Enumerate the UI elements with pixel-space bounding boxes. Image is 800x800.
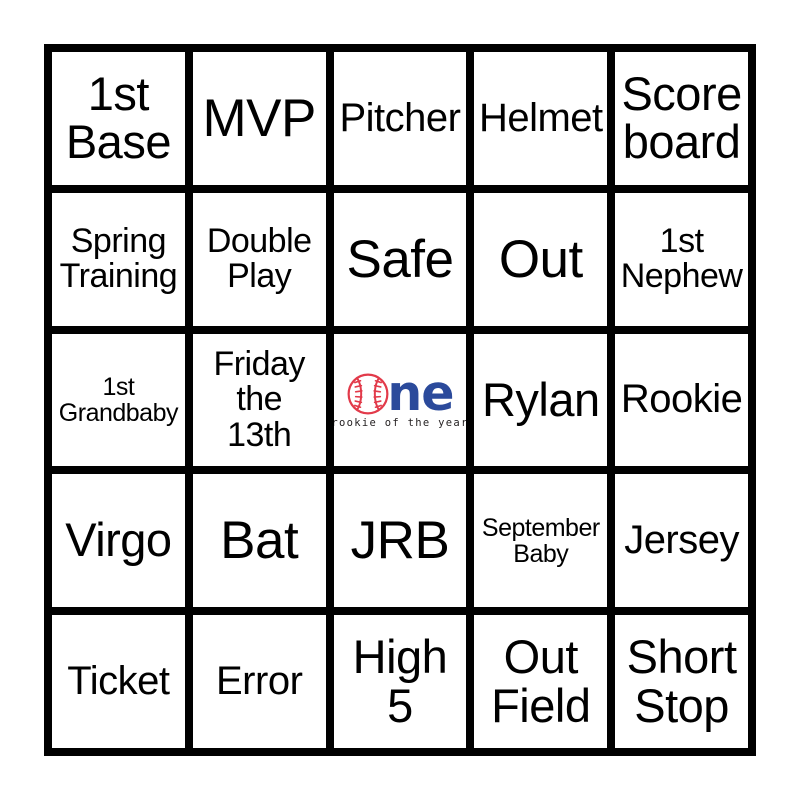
bingo-cell[interactable]: 1st Nephew — [615, 193, 748, 326]
bingo-cell[interactable]: Rylan — [474, 334, 607, 467]
bingo-cell[interactable]: Double Play — [193, 193, 326, 326]
cell-label: Score board — [615, 70, 748, 168]
cell-label: Short Stop — [615, 633, 748, 731]
bingo-cell[interactable]: Out Field — [474, 615, 607, 748]
bingo-cell[interactable]: MVP — [193, 52, 326, 185]
bingo-cell[interactable]: Out — [474, 193, 607, 326]
logo-wordmark-text: ne — [387, 373, 453, 414]
bingo-cell[interactable]: Safe — [334, 193, 467, 326]
bingo-cell[interactable]: Short Stop — [615, 615, 748, 748]
rookie-of-the-year-logo: ne rookie of the year — [334, 334, 467, 467]
cell-label: Safe — [334, 232, 467, 287]
cell-label: Pitcher — [334, 98, 467, 140]
bingo-cell[interactable]: Bat — [193, 474, 326, 607]
bingo-cell[interactable]: High 5 — [334, 615, 467, 748]
bingo-cell[interactable]: Friday the 13th — [193, 334, 326, 467]
bingo-cell[interactable]: Pitcher — [334, 52, 467, 185]
bingo-cell[interactable]: 1st Base — [52, 52, 185, 185]
cell-label: Out — [474, 232, 607, 287]
bingo-card-root: 1st Base MVP Pitcher Helmet Score board … — [0, 0, 800, 800]
cell-label: High 5 — [334, 633, 467, 731]
cell-label: Ticket — [52, 661, 185, 703]
cell-label: 1st Grandbaby — [52, 374, 185, 426]
cell-label: MVP — [193, 91, 326, 146]
cell-label: Helmet — [474, 98, 607, 140]
cell-label: JRB — [334, 513, 467, 568]
cell-label: Double Play — [193, 224, 326, 295]
cell-label: Bat — [193, 513, 326, 568]
bingo-cell[interactable]: Error — [193, 615, 326, 748]
bingo-cell[interactable]: September Baby — [474, 474, 607, 607]
cell-label: Rylan — [474, 376, 607, 425]
bingo-cell-free-space[interactable]: ne rookie of the year — [334, 334, 467, 467]
logo-tagline: rookie of the year — [334, 418, 467, 429]
cell-label: Jersey — [615, 520, 748, 562]
bingo-cell[interactable]: JRB — [334, 474, 467, 607]
cell-label: Friday the 13th — [193, 347, 326, 453]
bingo-cell[interactable]: Ticket — [52, 615, 185, 748]
cell-label: 1st Base — [52, 70, 185, 168]
bingo-grid: 1st Base MVP Pitcher Helmet Score board … — [44, 44, 756, 756]
cell-label: 1st Nephew — [615, 224, 748, 295]
bingo-cell[interactable]: 1st Grandbaby — [52, 334, 185, 467]
logo-wordmark: ne — [346, 372, 453, 416]
cell-label: Out Field — [474, 633, 607, 731]
bingo-cell[interactable]: Rookie — [615, 334, 748, 467]
bingo-cell[interactable]: Spring Training — [52, 193, 185, 326]
bingo-cell[interactable]: Helmet — [474, 52, 607, 185]
cell-label: Virgo — [52, 516, 185, 565]
baseball-icon — [346, 372, 390, 416]
cell-label: Error — [193, 661, 326, 703]
cell-label: Spring Training — [52, 224, 185, 295]
bingo-cell[interactable]: Score board — [615, 52, 748, 185]
cell-label: Rookie — [615, 379, 748, 421]
bingo-cell[interactable]: Jersey — [615, 474, 748, 607]
cell-label: September Baby — [474, 515, 607, 567]
bingo-cell[interactable]: Virgo — [52, 474, 185, 607]
